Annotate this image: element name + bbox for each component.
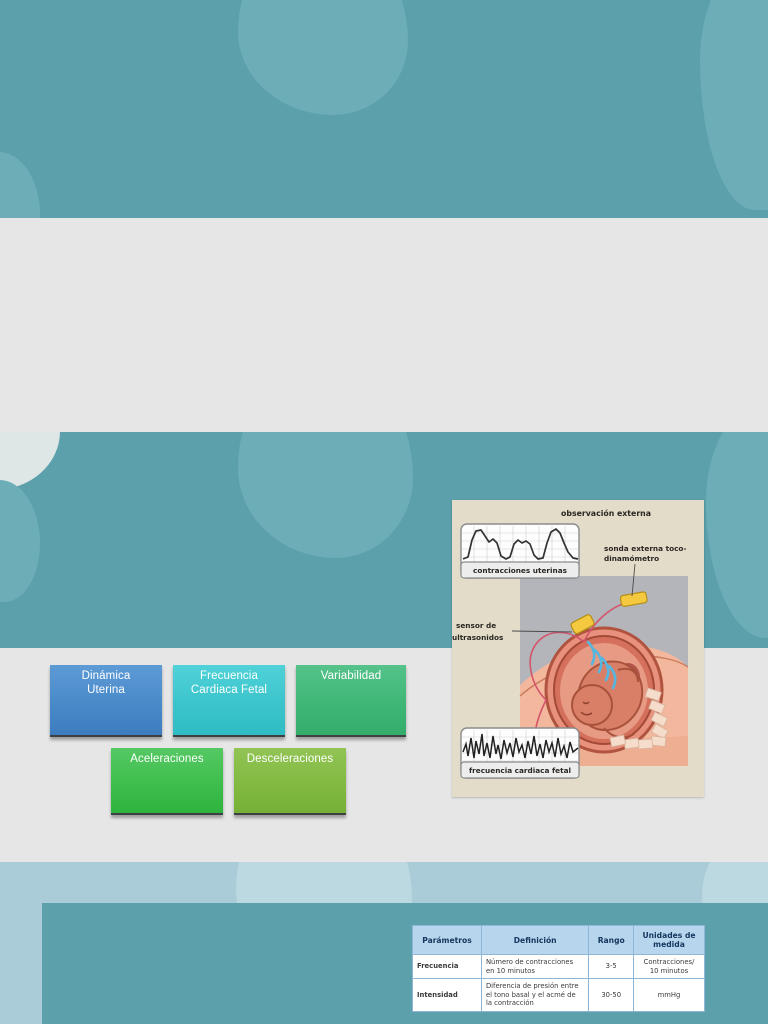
box-label-line1: Desceleraciones (234, 753, 346, 767)
parameters-table: Parámetros Definición Rango Unidades de … (412, 925, 705, 1012)
unidades-line2: 10 minutos (638, 967, 700, 976)
decorative-blob-top-2 (238, 432, 413, 558)
box-dinamica-uterina[interactable]: Dinámica Uterina (50, 665, 162, 737)
decorative-blob-left (0, 152, 40, 218)
figure-label-probe-line1: sonda externa toco- (604, 544, 686, 553)
cell-unidades: Contracciones/ 10 minutos (634, 955, 705, 979)
slide-1-teal-band (0, 0, 768, 218)
definicion-line1: Diferencia de presión entre (486, 982, 584, 991)
box-frecuencia-cardiaca-fetal[interactable]: Frecuencia Cardiaca Fetal (173, 665, 285, 737)
figure-caption-bottom: frecuencia cardiaca fetal (469, 766, 571, 775)
cell-unidades: mmHg (634, 979, 705, 1012)
box-desceleraciones[interactable]: Desceleraciones (234, 748, 346, 815)
definicion-line1: Número de contracciones (486, 958, 584, 967)
cell-parametro: Intensidad (413, 979, 482, 1012)
figure-label-probe-line2: dinamómetro (604, 554, 659, 563)
definicion-line2: en 10 minutos (486, 967, 584, 976)
cell-parametro: Frecuencia (413, 955, 482, 979)
definicion-line3: la contracción (486, 999, 584, 1008)
slide-1-content-area (0, 218, 768, 432)
table-header-rango: Rango (589, 926, 634, 955)
cell-rango: 30-50 (589, 979, 634, 1012)
box-aceleraciones[interactable]: Aceleraciones (111, 748, 223, 815)
table-header-unidades: Unidades de medida (634, 926, 705, 955)
decorative-blob-right-2 (706, 432, 768, 638)
table-header-parametros: Parámetros (413, 926, 482, 955)
figure-label-sensor-line1: sensor de (456, 621, 496, 630)
table-header-definicion: Definición (481, 926, 588, 955)
decorative-blob-left-2 (0, 480, 40, 602)
box-label-line2: Uterina (50, 684, 162, 698)
fetal-monitoring-diagram: contracciones uterinas frecuencia cardia… (452, 500, 704, 797)
box-variabilidad[interactable]: Variabilidad (296, 665, 406, 737)
table-row: Frecuencia Número de contracciones en 10… (413, 955, 705, 979)
box-label-line1: Aceleraciones (111, 753, 223, 767)
box-label-line2: Cardiaca Fetal (173, 684, 285, 698)
unidades-line1: mmHg (638, 991, 700, 1000)
table-header-unidades-line1: Unidades de (638, 931, 700, 940)
table-header-unidades-line2: medida (638, 940, 700, 949)
box-label-line1: Frecuencia (173, 670, 285, 684)
figure-caption-top: contracciones uterinas (473, 566, 567, 575)
decorative-blob-right (700, 0, 768, 210)
cell-definicion: Diferencia de presión entre el tono basa… (481, 979, 588, 1012)
table-row: Intensidad Diferencia de presión entre e… (413, 979, 705, 1012)
cell-rango: 3-5 (589, 955, 634, 979)
table-header-row: Parámetros Definición Rango Unidades de … (413, 926, 705, 955)
definicion-line2: el tono basal y el acmé de (486, 991, 584, 1000)
box-label-line1: Dinámica (50, 670, 162, 684)
box-label-line1: Variabilidad (296, 670, 406, 684)
unidades-line1: Contracciones/ (638, 958, 700, 967)
figure-title: observación externa (561, 509, 651, 518)
decorative-blob-top (238, 0, 408, 115)
cell-definicion: Número de contracciones en 10 minutos (481, 955, 588, 979)
figure-label-sensor-line2: ultrasonidos (452, 633, 503, 642)
